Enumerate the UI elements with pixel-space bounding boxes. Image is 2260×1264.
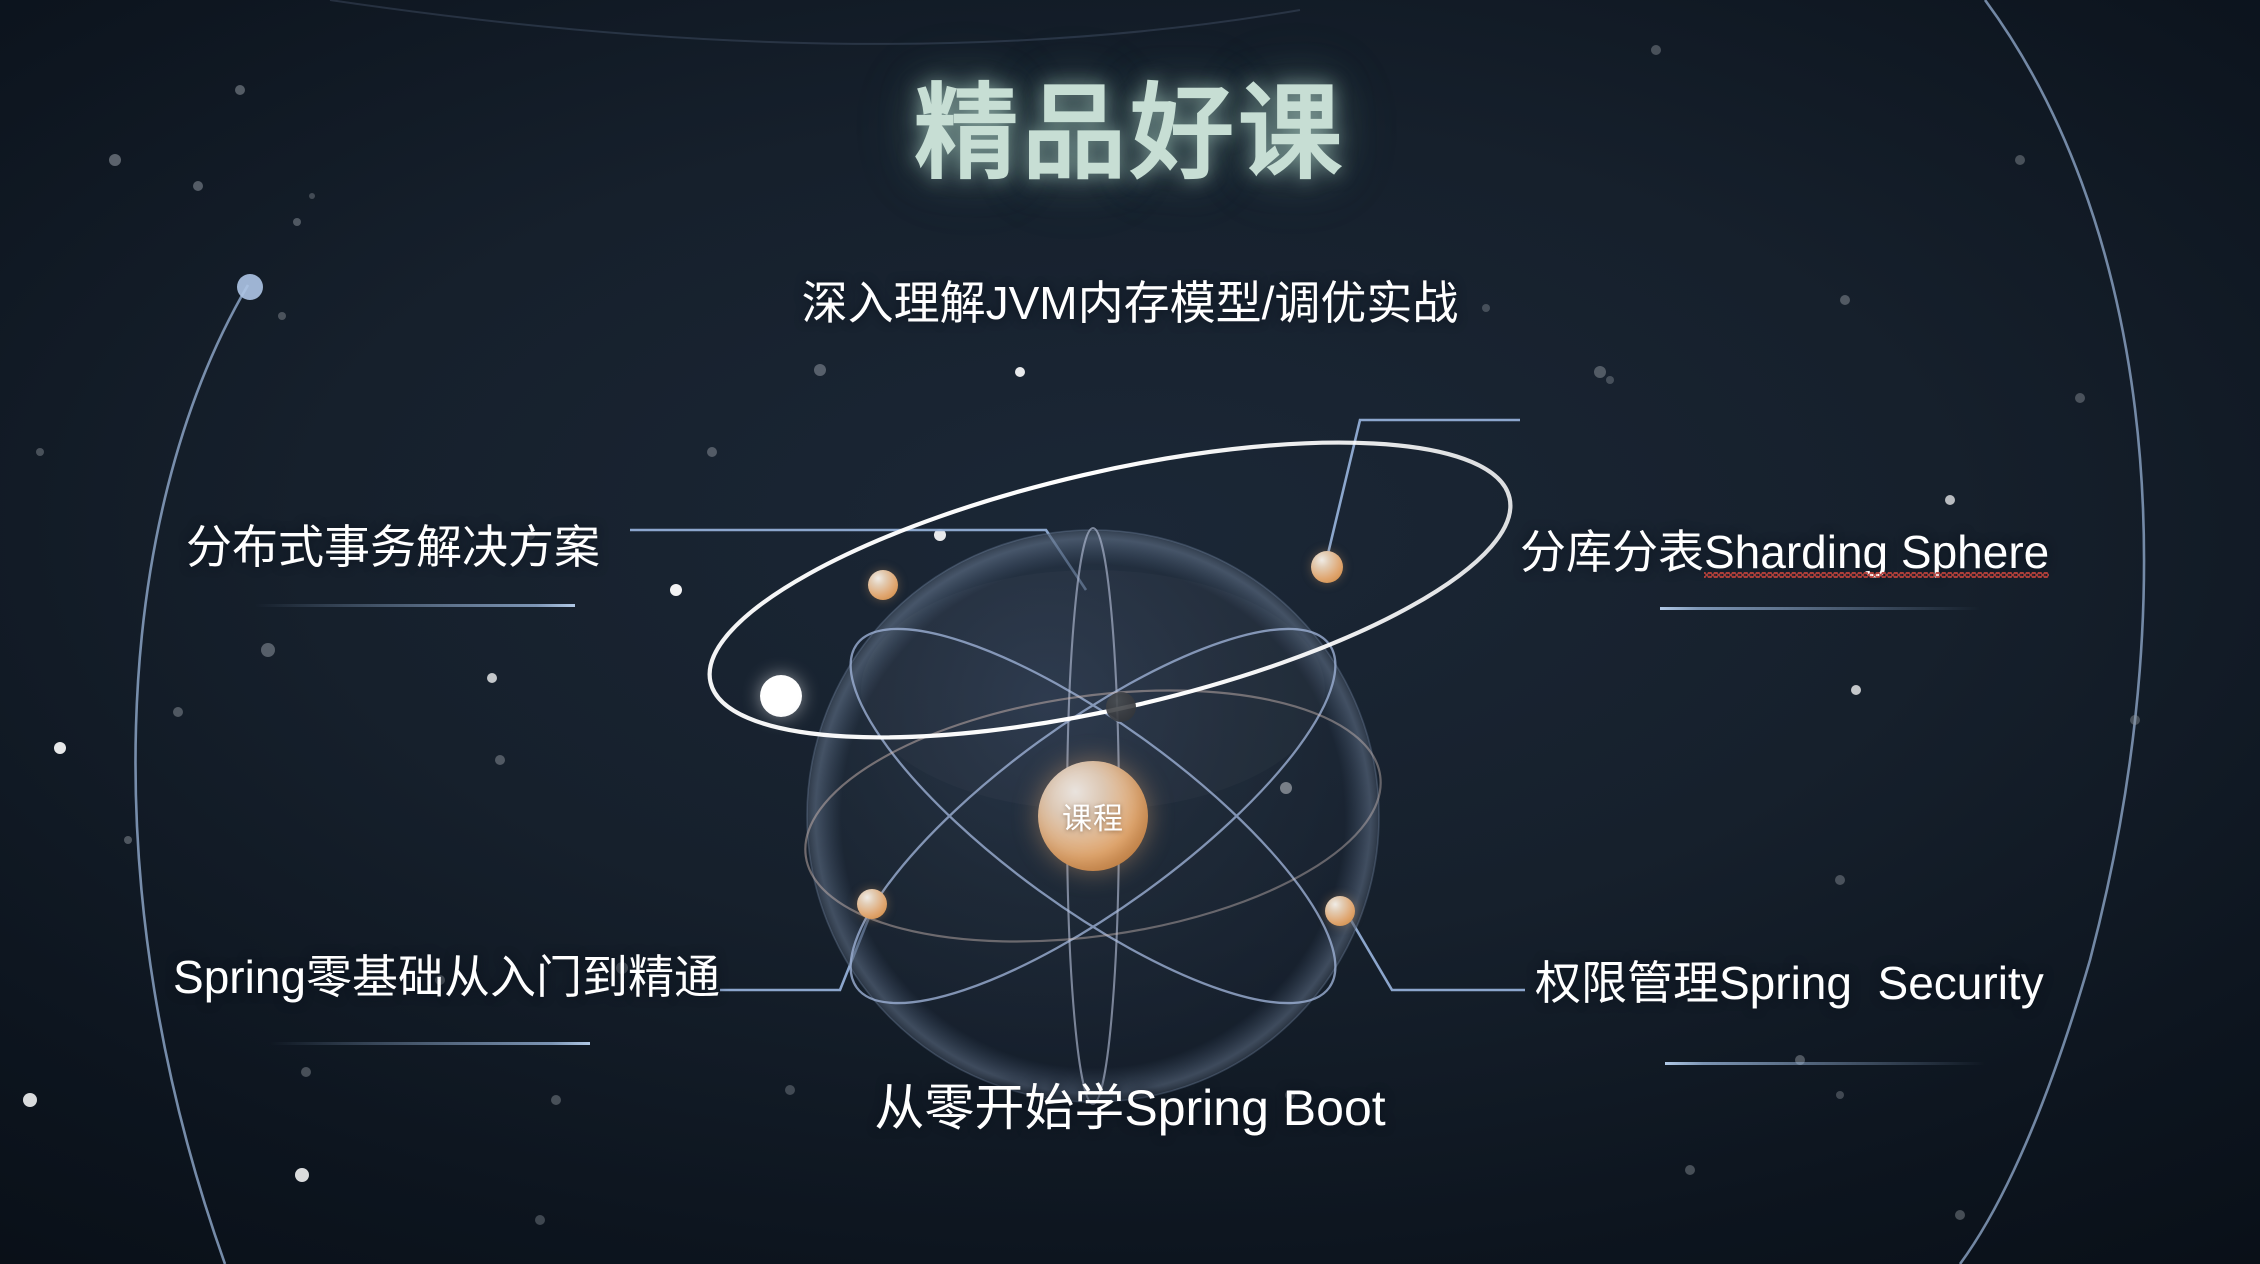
orbit-node-dark-icon: [1106, 692, 1136, 722]
course-label-jvm: 深入理解JVM内存模型/调优实战: [0, 278, 2260, 330]
accent-rule-left-top: [255, 604, 575, 607]
course-label-spring-boot: 从零开始学Spring Boot: [0, 1080, 2260, 1136]
page-title: 精品好课: [0, 48, 2260, 199]
star-dot-icon: [36, 45, 2140, 1225]
orbit-node-icon: [1311, 551, 1343, 583]
accent-rule-right-top: [1660, 607, 1980, 610]
orbit-node-icon: [868, 570, 898, 600]
background-arc-top-right: [330, 0, 1300, 44]
course-label-sharding-sphere-latin: Sharding Sphere: [1704, 527, 2049, 579]
connector-right-bottom: [1342, 905, 1525, 990]
accent-rule-left-bottom: [270, 1042, 590, 1045]
orbit-node-icon: [1325, 896, 1355, 926]
connector-left-top: [630, 530, 1086, 590]
course-label-distributed-transaction: 分布式事务解决方案: [0, 522, 600, 574]
orbit-node-white-icon: [760, 675, 802, 717]
course-label-sharding-sphere: 分库分表Sharding Sphere: [1520, 527, 2049, 579]
nucleus-label: 课程: [1062, 794, 1124, 838]
connector-left-bottom: [720, 900, 876, 990]
course-label-spring-basics: Spring零基础从入门到精通: [0, 952, 720, 1004]
nucleus-sphere-icon: 课程: [1038, 761, 1148, 871]
connector-right-top: [1326, 420, 1520, 562]
orbit-node-icon: [857, 889, 887, 919]
accent-rule-right-bottom: [1665, 1062, 1985, 1065]
orbit-ring-highlight-icon: [684, 383, 1536, 797]
star-dot-bright-icon: [23, 367, 1955, 1182]
course-label-sharding-sphere-cjk: 分库分表: [1520, 526, 1704, 578]
slide-canvas: 课程 精品好课 深入理解JVM内存模型/调优实战 分布式事务解决方案 Sprin…: [0, 0, 2260, 1264]
course-label-spring-security: 权限管理Spring Security: [1535, 958, 2044, 1010]
